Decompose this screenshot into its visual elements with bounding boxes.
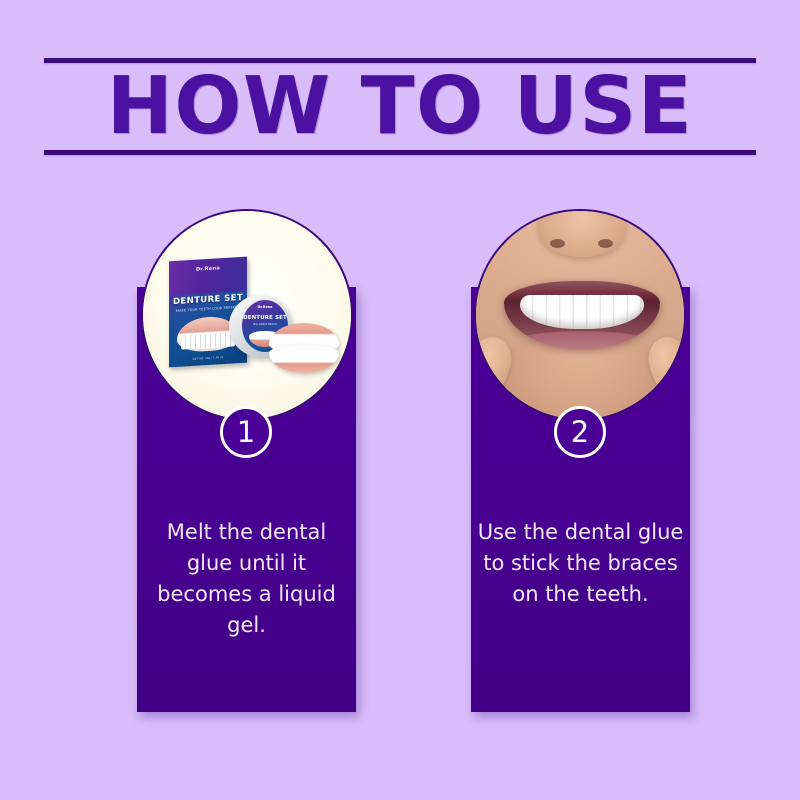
denture-lower-arch (269, 345, 339, 373)
step-2-image-disc (474, 209, 686, 421)
step-1-image-disc: Dr.Rena DENTURE SET MAKE YOUR TEETH LOOK… (141, 209, 353, 421)
step-badge-1: 1 (220, 406, 272, 458)
product-box-brand: Dr.Rena (169, 264, 247, 275)
denture-prop (269, 323, 339, 375)
steps-container: Dr.Rena DENTURE SET MAKE YOUR TEETH LOOK… (0, 185, 800, 800)
step-badge-2: 2 (554, 406, 606, 458)
title-rule-bottom (44, 150, 756, 155)
denture-set-product-photo: Dr.Rena DENTURE SET MAKE YOUR TEETH LOOK… (143, 211, 351, 419)
page-header: HOW TO USE (0, 0, 800, 185)
step-caption-1: Melt the dental glue until it becomes a … (137, 517, 356, 641)
mouth (504, 281, 660, 349)
lower-lip (514, 331, 650, 349)
page-title: HOW TO USE (0, 62, 800, 150)
nostril-right (598, 239, 613, 248)
smiling-mouth-photo (476, 211, 684, 419)
step-1-image: Dr.Rena DENTURE SET MAKE YOUR TEETH LOOK… (143, 211, 351, 419)
product-jar-brand: Dr.Rena (242, 305, 288, 309)
nose (538, 211, 626, 257)
step-2-image (476, 211, 684, 419)
product-box-footer: NET WT. 30g / 1.05 oz (175, 354, 241, 362)
product-jar-title: DENTURE SET (242, 315, 288, 321)
nostril-left (550, 239, 565, 248)
step-caption-2: Use the dental glue to stick the braces … (471, 517, 690, 610)
teeth (520, 295, 644, 329)
